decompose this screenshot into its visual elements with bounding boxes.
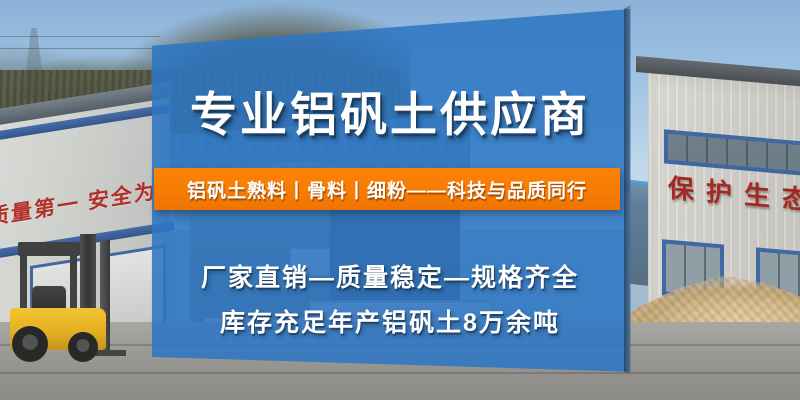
highlight-bar-text: 铝矾土熟料丨骨料丨细粉——科技与品质同行 [187,176,587,203]
banner-subline-2: 库存充足年产铝矾土8万余吨 [150,303,630,339]
forklift-wheel [12,326,48,362]
right-building-sign: 保护生态 [668,168,800,218]
highlight-bar: 铝矾土熟料丨骨料丨细粉——科技与品质同行 [154,168,620,210]
banner-text-block: 专业铝矾土供应商 铝矾土熟料丨骨料丨细粉——科技与品质同行 厂家直销—质量稳定—… [150,0,630,378]
banner-headline: 专业铝矾土供应商 [150,76,630,145]
promotional-banner: 质量第一 安全为重 保护生态 [0,0,800,400]
power-line [0,48,160,49]
power-line [0,36,160,37]
forklift-wheel [68,332,98,362]
banner-subline-1: 厂家直销—质量稳定—规格齐全 [150,258,630,294]
forklift [6,234,134,362]
forklift-post [70,242,77,316]
forklift-post [20,242,27,316]
